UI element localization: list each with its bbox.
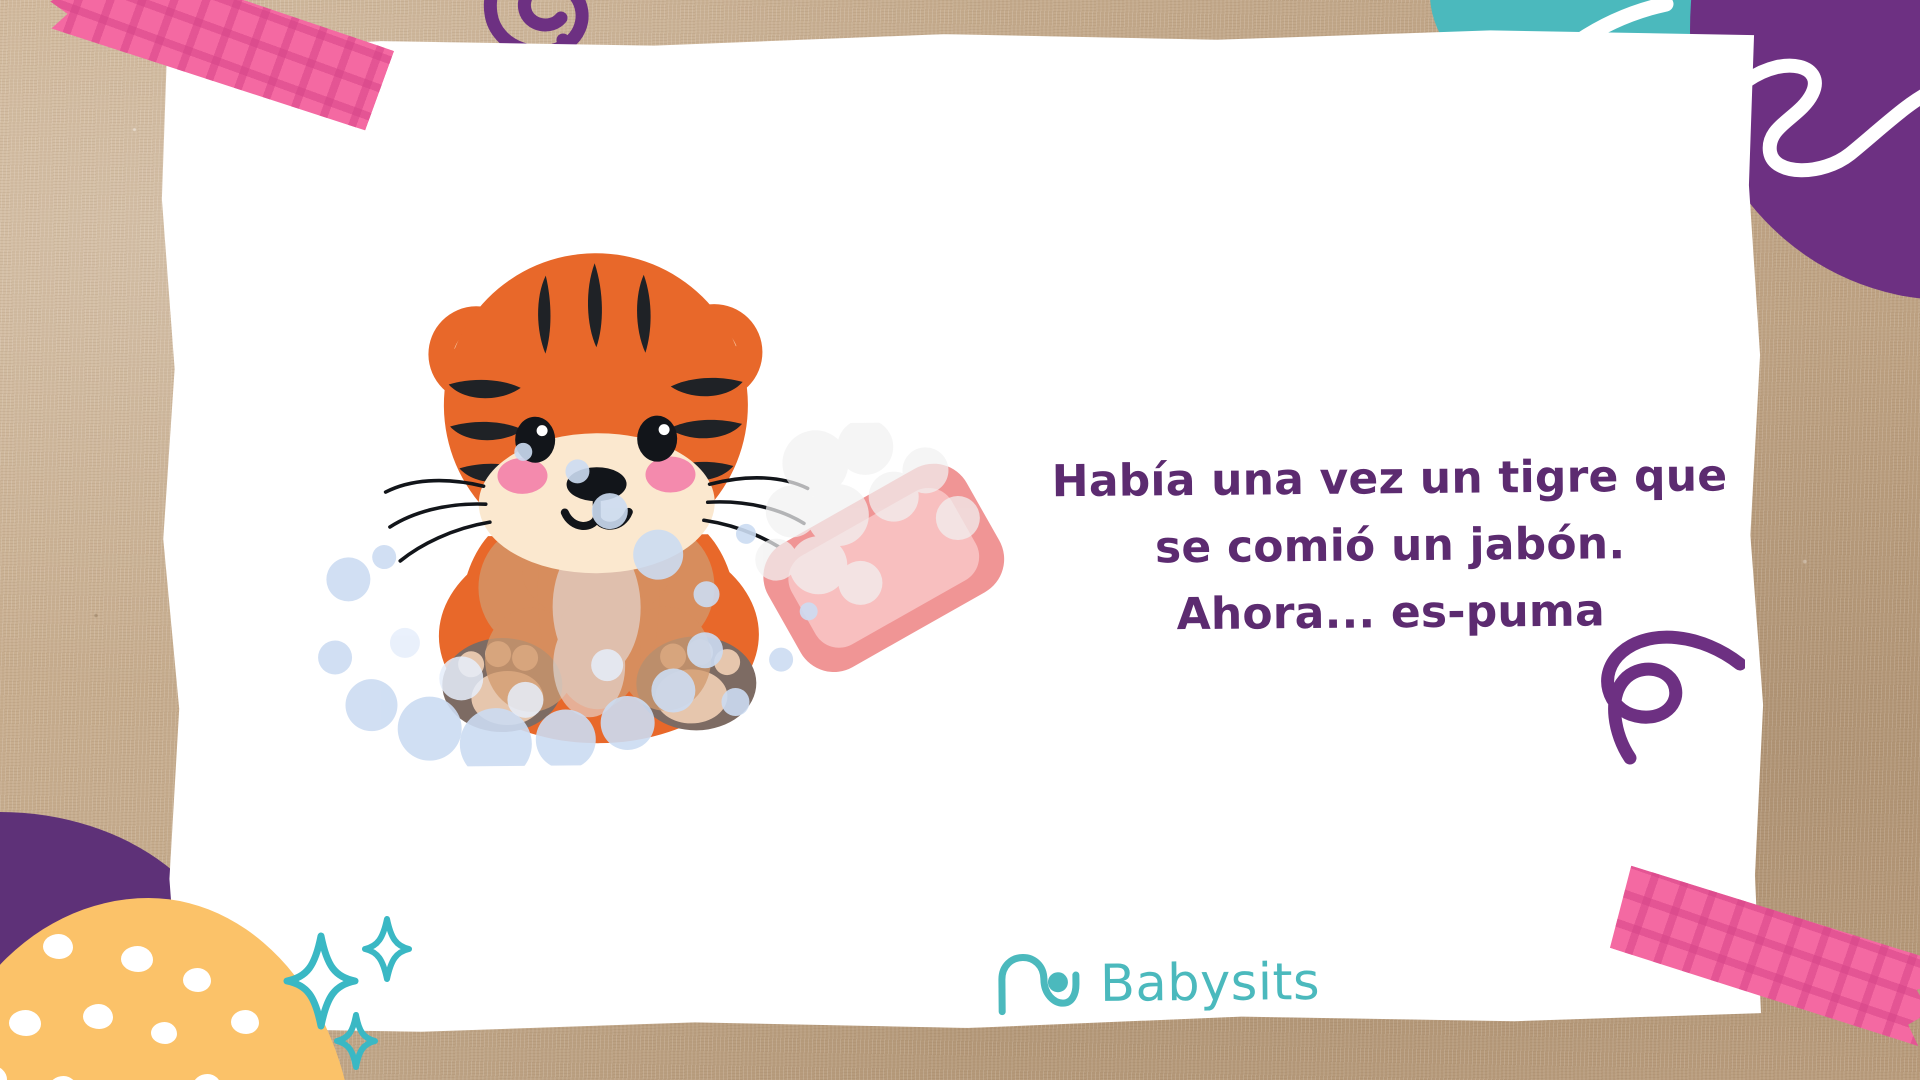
white-squiggle-icon-purple [1742,48,1920,238]
sparkle-icon-small [334,1012,378,1070]
soap-bubbles-illustration [309,413,872,768]
purple-loop-squiggle-icon [1530,618,1745,778]
sparkle-icon-medium [362,916,412,982]
paper-card: Había una vez un tigre que se comió un j… [156,25,1773,1039]
joke-line-2: se comió un jabón. [1040,510,1741,583]
joke-line-1: Había una vez un tigre que [1039,443,1740,516]
babysits-wordmark: Babysits [1100,956,1321,1009]
babysits-wave-icon [996,953,1083,1016]
babysits-logo[interactable]: Babysits [996,951,1321,1016]
